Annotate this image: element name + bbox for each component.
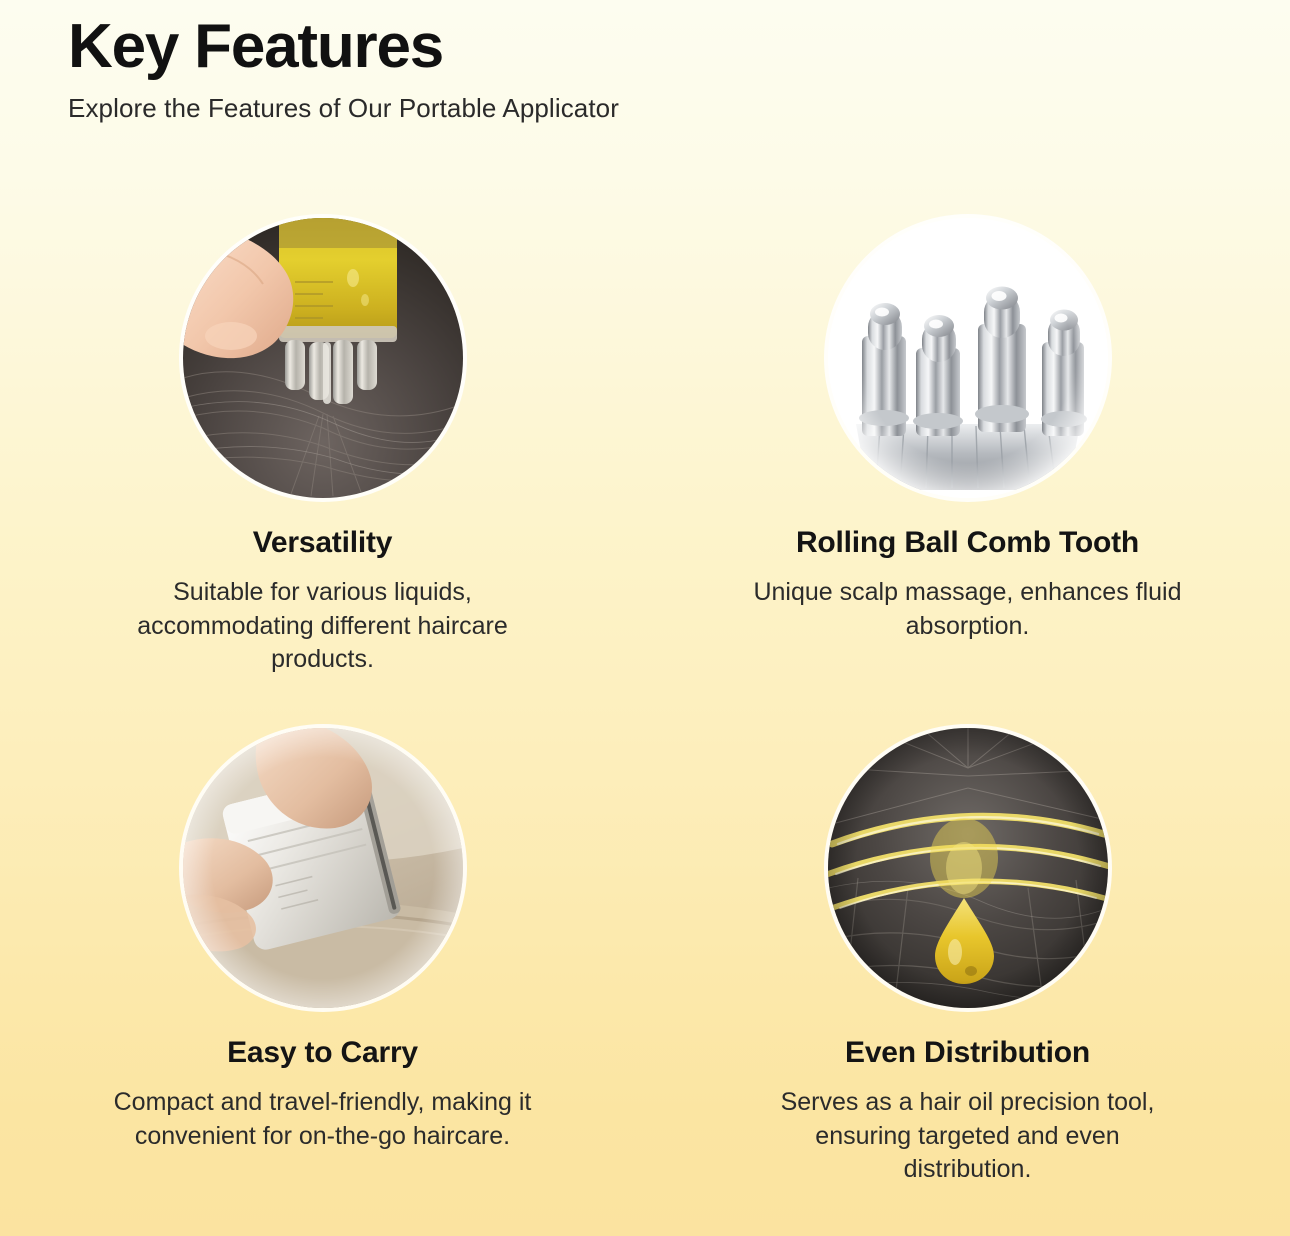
applicator-in-pocket-photo <box>183 728 463 1008</box>
feature-card-versatility: Versatility Suitable for various liquids… <box>0 200 645 710</box>
page-header: Key Features Explore the Features of Our… <box>0 0 1290 124</box>
even-distribution-photo <box>828 728 1108 1008</box>
feature-description: Serves as a hair oil precision tool, ens… <box>753 1086 1183 1187</box>
feature-description: Compact and travel-friendly, making it c… <box>108 1086 538 1153</box>
page-title: Key Features <box>68 14 1290 81</box>
applicator-on-scalp-photo <box>183 218 463 498</box>
feature-card-even-distribution: Even Distribution Serves as a hair oil p… <box>645 710 1290 1220</box>
feature-card-rolling-ball-comb-tooth: Rolling Ball Comb Tooth Unique scalp mas… <box>645 200 1290 710</box>
feature-card-easy-to-carry: Easy to Carry Compact and travel-friendl… <box>0 710 645 1220</box>
page-subtitle: Explore the Features of Our Portable App… <box>68 93 1290 124</box>
feature-description: Suitable for various liquids, accommodat… <box>108 576 538 677</box>
feature-title: Versatility <box>253 526 393 560</box>
feature-title: Rolling Ball Comb Tooth <box>796 526 1139 560</box>
feature-title: Even Distribution <box>845 1036 1090 1070</box>
rolling-ball-teeth-photo <box>828 218 1108 498</box>
feature-description: Unique scalp massage, enhances fluid abs… <box>753 576 1183 643</box>
feature-grid: Versatility Suitable for various liquids… <box>0 200 1290 1220</box>
feature-title: Easy to Carry <box>227 1036 418 1070</box>
